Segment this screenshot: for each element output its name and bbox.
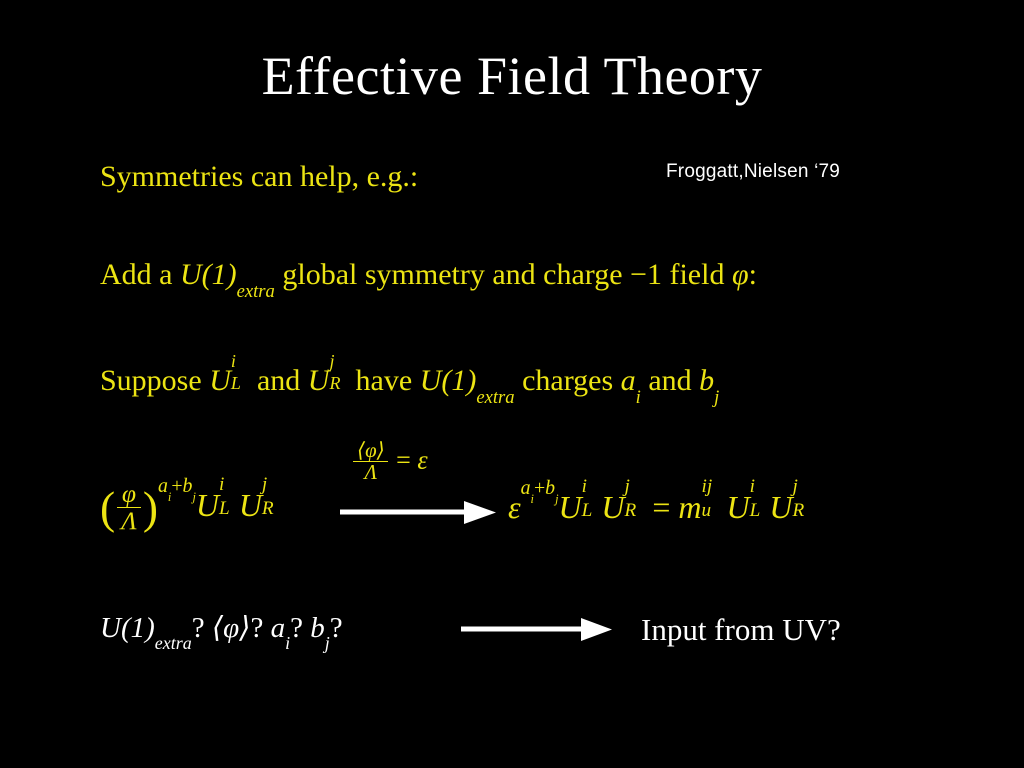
eq-rhs-mass-indices: iju (702, 486, 727, 518)
body-line-add-u1: Add a U(1)extra global symmetry and char… (100, 258, 757, 293)
eq-rhs-exponent: ai+bj (521, 477, 559, 499)
equation-right-hand-side: εai+bjUiLUjR = mijuUiLUjR (508, 486, 812, 526)
eq-rhs-exponent-b-sub: j (555, 492, 558, 506)
line3-part-b: and (249, 364, 307, 397)
eq-rhs-u-left2: U (726, 489, 749, 525)
eq-rhs-exponent-plus: + (534, 477, 545, 499)
bottom-vev: ⟨φ⟩ (212, 612, 251, 644)
eq-rhs-u-left: U (558, 489, 581, 525)
bottom-a-charge-subscript: i (285, 633, 290, 653)
line3-u-right-superscript: j (329, 351, 334, 372)
eq-lhs-exponent-a-sub: i (168, 490, 171, 504)
line2-part-b: global symmetry and charge (275, 258, 630, 291)
line3-part-a: Suppose (100, 364, 209, 397)
eq-lhs-u-left-indices: iL (219, 484, 239, 516)
body-line-symmetries: Symmetries can help, e.g.: (100, 160, 418, 195)
slide-canvas: Effective Field Theory Symmetries can he… (0, 0, 1024, 768)
citation-text: Froggatt,Nielsen ‘79 (666, 161, 840, 182)
eq-rhs-u-left2-subscript: L (750, 500, 761, 522)
arrow-label-epsilon: ε (417, 446, 427, 475)
line3-b-charge-subscript: j (714, 387, 719, 408)
eq-rhs-mass-subscript: u (702, 500, 712, 522)
eq-lhs-u-left-subscript: L (219, 498, 230, 520)
eq-rhs-u-right2: U (769, 489, 792, 525)
eq-lhs-exponent-plus: + (171, 475, 182, 497)
eq-lhs-u-right-subscript: R (262, 498, 274, 520)
bottom-b-charge: b (310, 612, 325, 644)
eq-rhs-exponent-b: b (545, 477, 555, 499)
line3-u-right-subscript: R (329, 373, 340, 394)
eq-lhs-u-right-indices: jR (262, 484, 282, 516)
line2-part-a: Add a (100, 258, 180, 291)
eq-rhs-u-right2-subscript: R (793, 500, 805, 522)
eq-rhs-u-right-indices: jR (625, 486, 645, 518)
line3-u-left: U (209, 364, 231, 397)
eq-rhs-u-right-subscript: R (625, 500, 637, 522)
body-line-symmetries-text: Symmetries can help, e.g.: (100, 160, 418, 193)
arrow-label-numerator: ⟨φ⟩ (353, 440, 388, 461)
line2-part-c: field (662, 258, 732, 291)
eq-rhs-u-right2-indices: jR (793, 486, 813, 518)
bottom-b-charge-subscript: j (325, 633, 330, 653)
line3-u1-subscript: extra (476, 387, 514, 408)
eq-rhs-exponent-a-sub: i (531, 492, 534, 506)
arrow-label-equals: = (396, 446, 411, 475)
bottom-u1: U(1) (100, 612, 155, 644)
eq-lhs-fraction-denominator: Λ (117, 507, 142, 534)
line3-b-charge: b (699, 364, 714, 397)
eq-rhs-u-right: U (601, 489, 624, 525)
eq-lhs-u-left: U (196, 487, 219, 523)
eq-lhs-exponent-b: b (183, 475, 193, 497)
implication-arrow-icon (459, 615, 614, 645)
eq-rhs-u-left2-indices: iL (750, 486, 770, 518)
eq-lhs-u-right: U (239, 487, 262, 523)
eq-rhs-u-left2-superscript: i (750, 476, 755, 498)
line3-part-c: have (348, 364, 420, 397)
eq-rhs-u-left-superscript: i (582, 476, 587, 498)
bottom-q1: ? (192, 612, 212, 644)
line2-part-d: : (749, 258, 757, 291)
eq-rhs-equals: = (652, 489, 670, 525)
equation-left-hand-side: (φΛ)ai+bjUiLUjR (100, 482, 282, 535)
arrow-label-denominator: Λ (353, 461, 388, 483)
bottom-u1-subscript: extra (155, 633, 192, 653)
eq-lhs-exponent-b-sub: j (192, 490, 195, 504)
bottom-question-line: U(1)extra? ⟨φ⟩? ai? bj? (100, 612, 343, 645)
arrow-label-vev-ratio: ⟨φ⟩Λ = ε (352, 441, 428, 484)
line3-part-d: charges (515, 364, 621, 397)
eq-rhs-mass: m (678, 489, 701, 525)
eq-rhs-u-right-superscript: j (625, 476, 630, 498)
eq-lhs-u-right-superscript: j (262, 474, 267, 496)
eq-rhs-epsilon: ε (508, 489, 521, 525)
eq-rhs-exponent-a: a (521, 477, 531, 499)
arrow-label-fraction: ⟨φ⟩Λ (353, 440, 388, 483)
line3-u-right-indices: jR (329, 360, 348, 390)
eq-rhs-u-right2-superscript: j (793, 476, 798, 498)
line2-u1-subscript: extra (237, 281, 275, 302)
eq-lhs-fraction: φΛ (117, 481, 142, 534)
line2-u1: U(1) (180, 258, 237, 291)
line3-u-left-indices: iL (231, 360, 250, 390)
eq-rhs-u-left-subscript: L (582, 500, 593, 522)
bottom-a-charge: a (271, 612, 286, 644)
eq-rhs-mass-superscript: ij (702, 476, 713, 498)
eq-lhs-fraction-numerator: φ (117, 481, 142, 507)
bottom-right-text: Input from UV? (641, 612, 841, 648)
bottom-right-label: Input from UV? (641, 612, 841, 647)
eq-lhs-exponent: ai+bj (158, 475, 196, 497)
line3-u1: U(1) (420, 364, 477, 397)
body-line-suppose-charges: Suppose UiL and UjR have U(1)extra charg… (100, 360, 719, 399)
eq-lhs-close-paren: ) (143, 483, 158, 533)
line3-u-left-superscript: i (231, 351, 236, 372)
line2-phi: φ (732, 258, 749, 291)
eq-rhs-u-left-indices: iL (582, 486, 602, 518)
bottom-q4: ? (330, 612, 343, 644)
line3-u-right: U (308, 364, 330, 397)
bottom-q3: ? (290, 612, 310, 644)
bottom-q2: ? (250, 612, 270, 644)
line3-u-left-subscript: L (231, 373, 241, 394)
eq-lhs-open-paren: ( (100, 483, 115, 533)
eq-lhs-u-left-superscript: i (219, 474, 224, 496)
line3-part-e: and (641, 364, 699, 397)
line2-minus-one: −1 (630, 258, 662, 291)
line3-a-charge: a (621, 364, 636, 397)
eq-lhs-exponent-a: a (158, 475, 168, 497)
transition-arrow-icon (338, 498, 498, 530)
page-title: Effective Field Theory (0, 48, 1024, 105)
line3-a-charge-subscript: i (636, 387, 641, 408)
citation-froggatt-nielsen: Froggatt,Nielsen ‘79 (666, 161, 840, 183)
